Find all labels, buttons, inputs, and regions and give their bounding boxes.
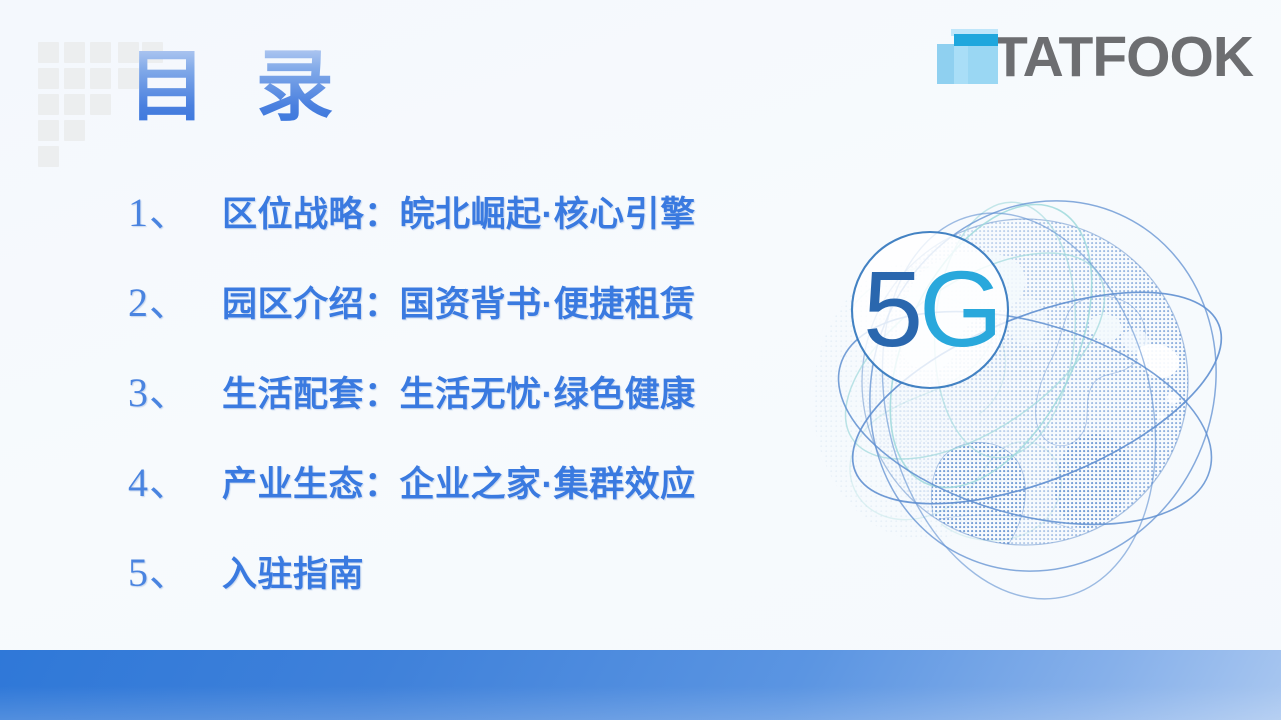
table-of-contents: 1、 区位战略：皖北崛起·核心引擎 2、 园区介绍：国资背书·便捷租赁 3、 生…: [128, 180, 788, 630]
decorative-dot-grid: [14, 14, 144, 134]
grid-square: [64, 68, 85, 89]
logo-cap-accent: [954, 34, 998, 46]
toc-item-label: 产业生态：企业之家·集群效应: [222, 456, 696, 507]
page-title: 目 录: [128, 44, 348, 130]
toc-item-number: 5、: [128, 540, 222, 598]
grid-square: [38, 146, 59, 167]
tatfook-mark-icon: [937, 26, 999, 84]
brand-logo-text: TATFOOK: [993, 30, 1253, 84]
grid-square: [64, 42, 85, 63]
badge-5g-digit: 5: [863, 248, 923, 369]
globe-5g-graphic: 5 G: [775, 150, 1245, 610]
toc-item-number: 2、: [128, 270, 222, 328]
bottom-banner: [0, 650, 1281, 720]
slide-root: TATFOOK 目 录 1、 区位战略：皖北崛起·核心引擎 2、 园区介绍：国资…: [0, 0, 1281, 720]
brand-logo: TATFOOK: [937, 22, 1253, 84]
badge-5g: 5 G: [852, 232, 1008, 388]
toc-item-label: 入驻指南: [222, 546, 364, 597]
toc-item-label: 园区介绍：国资背书·便捷租赁: [222, 276, 696, 327]
grid-square: [38, 120, 59, 141]
toc-item-label: 区位战略：皖北崛起·核心引擎: [222, 186, 696, 237]
toc-item-1[interactable]: 1、 区位战略：皖北崛起·核心引擎: [128, 180, 788, 270]
toc-item-number: 1、: [128, 180, 222, 238]
grid-square: [90, 94, 111, 115]
grid-square: [38, 68, 59, 89]
toc-item-label: 生活配套：生活无忧·绿色健康: [222, 366, 696, 417]
toc-item-number: 3、: [128, 360, 222, 418]
grid-square: [64, 120, 85, 141]
badge-5g-letter: G: [919, 248, 1003, 369]
toc-item-number: 4、: [128, 450, 222, 508]
grid-square: [90, 68, 111, 89]
toc-item-3[interactable]: 3、 生活配套：生活无忧·绿色健康: [128, 360, 788, 450]
toc-item-5[interactable]: 5、 入驻指南: [128, 540, 788, 630]
grid-square: [64, 94, 85, 115]
grid-square: [90, 42, 111, 63]
grid-square: [38, 42, 59, 63]
banner-sheen: [0, 686, 1281, 720]
toc-item-4[interactable]: 4、 产业生态：企业之家·集群效应: [128, 450, 788, 540]
toc-item-2[interactable]: 2、 园区介绍：国资背书·便捷租赁: [128, 270, 788, 360]
grid-square: [38, 94, 59, 115]
